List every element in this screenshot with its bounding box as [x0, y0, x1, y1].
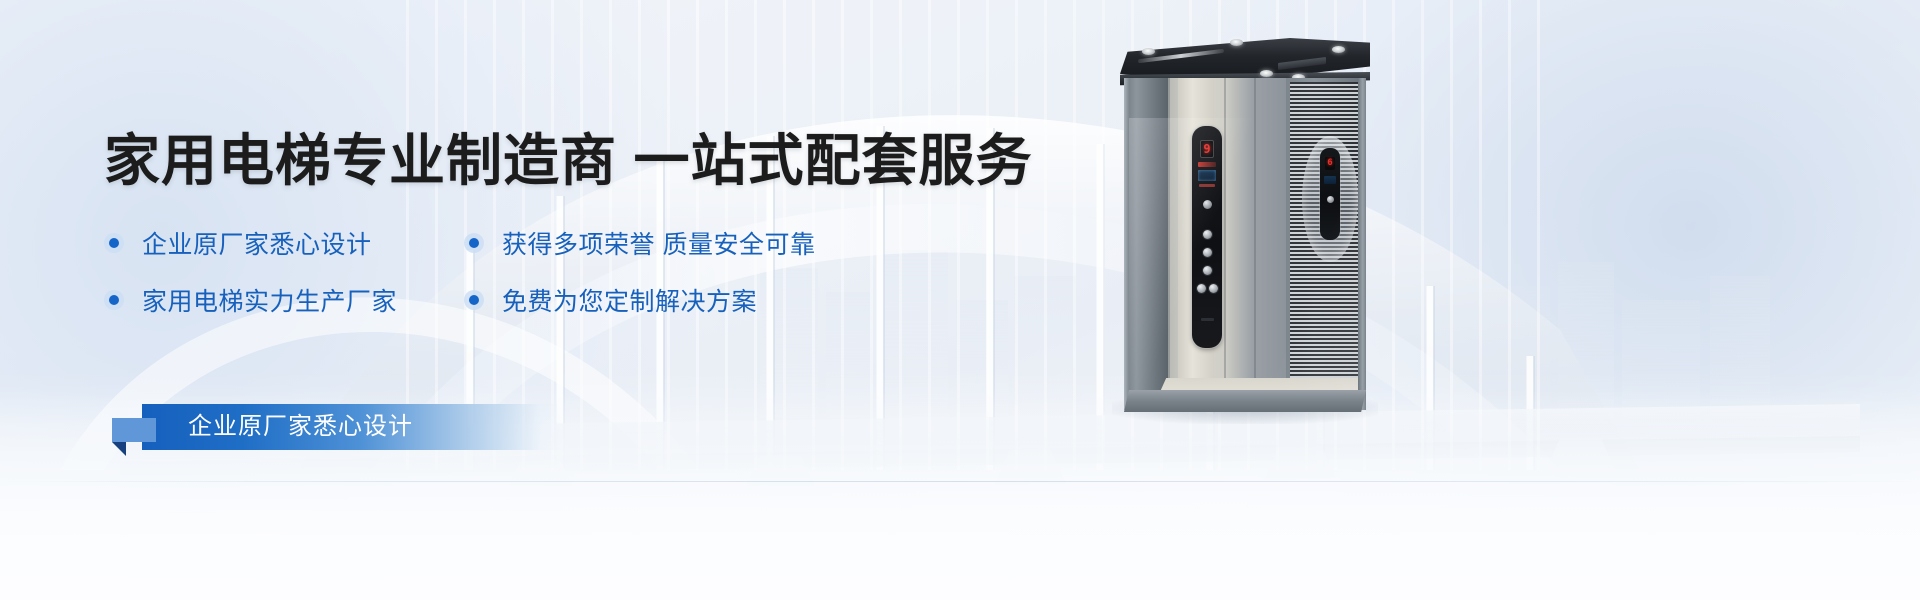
promo-banner: 9 6 — [0, 0, 1920, 600]
feature-label: 获得多项荣誉 质量安全可靠 — [502, 225, 815, 261]
panel-emergency-button[interactable] — [1203, 200, 1212, 209]
elevator-control-panel[interactable]: 9 — [1192, 126, 1222, 348]
banner-copy-block: 家用电梯专业制造商 一站式配套服务 企业原厂家悉心设计 获得多项荣誉 质量安全可… — [0, 0, 1100, 600]
ceiling-downlight — [1142, 48, 1155, 55]
cab-frame-rail-right — [1358, 78, 1366, 410]
cab-wall-seam — [1168, 78, 1170, 410]
feature-label: 企业原厂家悉心设计 — [142, 225, 372, 261]
bullet-dot-icon — [464, 290, 484, 310]
feature-item: 获得多项荣誉 质量安全可靠 — [464, 225, 884, 261]
feature-list: 企业原厂家悉心设计 获得多项荣誉 质量安全可靠 家用电梯实力生产厂家 免费为您定… — [104, 214, 924, 328]
panel-sub-marking — [1199, 184, 1215, 187]
cab-wall-seam — [1224, 78, 1226, 410]
floor-button[interactable] — [1203, 230, 1212, 239]
feature-row: 家用电梯实力生产厂家 免费为您定制解决方案 — [104, 271, 924, 328]
floor-indicator-display: 9 — [1200, 140, 1214, 158]
floor-indicator-display-secondary: 6 — [1325, 157, 1335, 170]
panel-lcd-screen-secondary — [1324, 176, 1336, 184]
panel-emergency-button-secondary — [1327, 196, 1334, 203]
cab-base-plinth — [1124, 390, 1366, 412]
ceiling-downlight — [1260, 70, 1273, 77]
door-close-button[interactable] — [1209, 284, 1218, 293]
ceiling-downlight — [1332, 46, 1345, 53]
floor-button[interactable] — [1203, 248, 1212, 257]
bullet-dot-icon — [104, 290, 124, 310]
feature-label: 免费为您定制解决方案 — [502, 282, 757, 318]
cab-wall-seam — [1254, 78, 1256, 410]
door-open-button[interactable] — [1197, 284, 1206, 293]
panel-key-slot[interactable] — [1201, 318, 1214, 321]
banner-headline: 家用电梯专业制造商 一站式配套服务 — [104, 116, 1033, 197]
panel-lcd-screen — [1198, 170, 1216, 181]
feature-item: 企业原厂家悉心设计 — [104, 225, 464, 261]
ribbon-fold-tail — [112, 442, 126, 456]
elevator-cabin-image: 9 6 — [1120, 38, 1370, 410]
cab-wall-left — [1124, 78, 1168, 410]
feature-label: 家用电梯实力生产厂家 — [142, 282, 397, 318]
panel-brand-mark — [1198, 162, 1216, 167]
bullet-dot-icon — [464, 233, 484, 253]
elevator-cab-interior: 9 6 — [1124, 78, 1366, 410]
floor-button[interactable] — [1203, 266, 1212, 275]
ribbon-label: 企业原厂家悉心设计 — [188, 404, 413, 450]
feature-item: 家用电梯实力生产厂家 — [104, 282, 464, 318]
bullet-dot-icon — [104, 233, 124, 253]
cab-frame-rail-left — [1124, 78, 1129, 410]
ribbon-tab — [112, 418, 156, 442]
feature-row: 企业原厂家悉心设计 获得多项荣誉 质量安全可靠 — [104, 214, 924, 271]
floor-indicator-value: 9 — [1200, 140, 1214, 158]
ceiling-downlight — [1230, 39, 1243, 46]
feature-item: 免费为您定制解决方案 — [464, 282, 884, 318]
elevator-control-panel-reflection: 6 — [1320, 148, 1340, 240]
